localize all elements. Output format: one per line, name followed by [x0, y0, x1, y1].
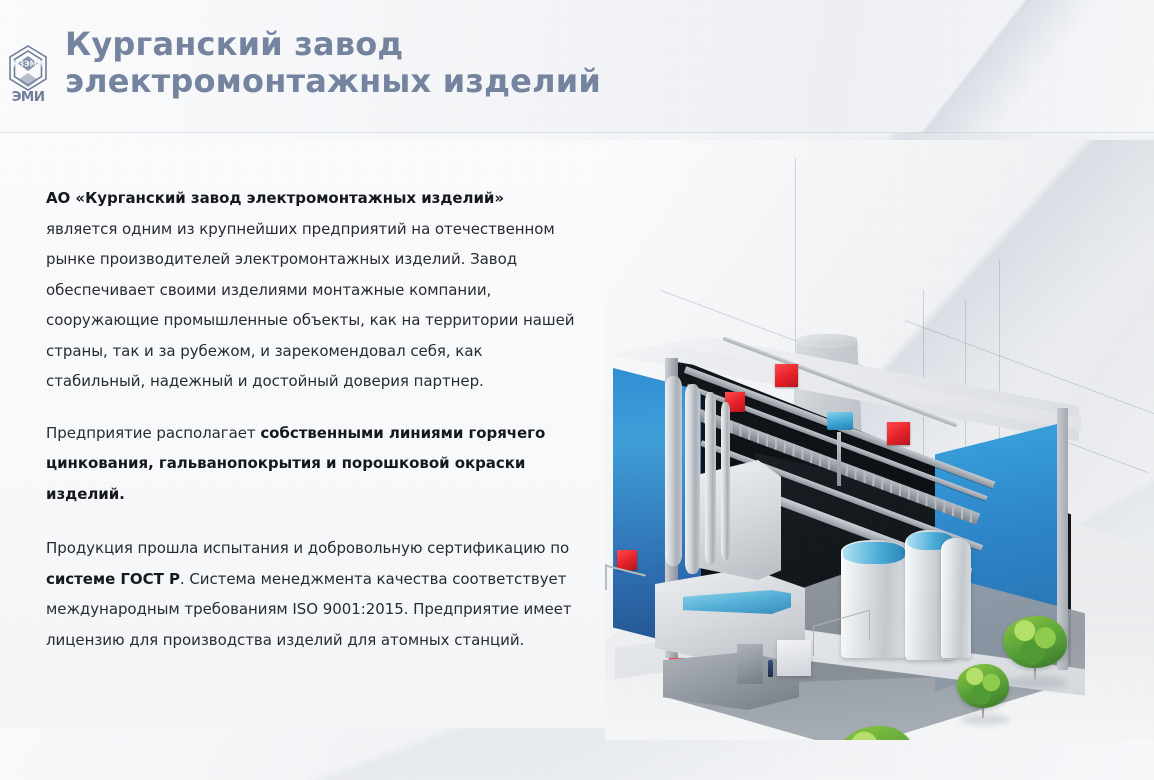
text-run: Продукция прошла испытания и добровольну… [46, 539, 569, 557]
tree-5-crown [1003, 616, 1067, 668]
tree-6-crown [957, 664, 1009, 708]
marker-cube-3 [887, 422, 910, 445]
exhaust-pipe-2 [685, 384, 700, 574]
wall-bracket-arm-2 [605, 564, 607, 590]
header: КЗЭМИ ЭМИ Курганский завод электромонтаж… [0, 0, 1154, 133]
crane-hoist-trolley [827, 412, 853, 430]
marker-cube-5 [617, 550, 637, 570]
slide-root: КЗЭМИ ЭМИ Курганский завод электромонтаж… [0, 0, 1154, 780]
page-title-line-2: электромонтажных изделий [65, 63, 685, 100]
paragraph-production-lines: Предприятие располагает собственными лин… [46, 418, 576, 510]
description-text-column: АО «Курганский завод электромонтажных из… [46, 183, 576, 655]
tree-5-shadow [1007, 676, 1067, 689]
exhaust-pipe-3 [705, 392, 716, 564]
cooling-tower-cap [797, 334, 857, 348]
text-run-bold: системе ГОСТ Р [46, 570, 180, 588]
safety-railing-post-2 [869, 610, 870, 640]
text-run: Предприятие располагает [46, 424, 260, 442]
tree-3-crown [837, 726, 917, 740]
worker-shadow [764, 678, 777, 682]
exhaust-pipe-1 [665, 376, 682, 566]
pallet-stack [777, 640, 811, 676]
control-cabinet [737, 644, 763, 684]
svg-text:КЗЭМИ: КЗЭМИ [13, 60, 44, 69]
svg-text:ЭМИ: ЭМИ [12, 89, 45, 105]
crane-hoist-drop [837, 432, 841, 486]
text-run-bold: АО «Курганский завод электромонтажных из… [46, 189, 504, 207]
paragraph-company-overview: АО «Курганский завод электромонтажных из… [46, 183, 576, 397]
page-title: Курганский завод электромонтажных издели… [65, 26, 685, 100]
exhaust-pipe-4 [721, 402, 730, 560]
worker-shadow-blob [764, 678, 777, 682]
galvanizing-tank-3 [941, 538, 971, 658]
marker-cube-1 [775, 364, 798, 387]
tree-5 [1003, 616, 1067, 690]
galvanizing-tank-1-band [843, 542, 905, 564]
page-title-line-1: Курганский завод [65, 26, 685, 63]
paragraph-certification: Продукция прошла испытания и добровольну… [46, 533, 576, 655]
worker-figure [768, 660, 773, 677]
safety-railing-post-1 [813, 626, 814, 656]
text-run: является одним из крупнейших предприятий… [46, 220, 574, 391]
tree-6-shadow [960, 714, 1010, 725]
factory-illustration [605, 140, 1154, 740]
tree-6 [957, 664, 1009, 724]
company-logo-icon: КЗЭМИ ЭМИ [5, 43, 51, 105]
tree-3 [837, 726, 917, 740]
